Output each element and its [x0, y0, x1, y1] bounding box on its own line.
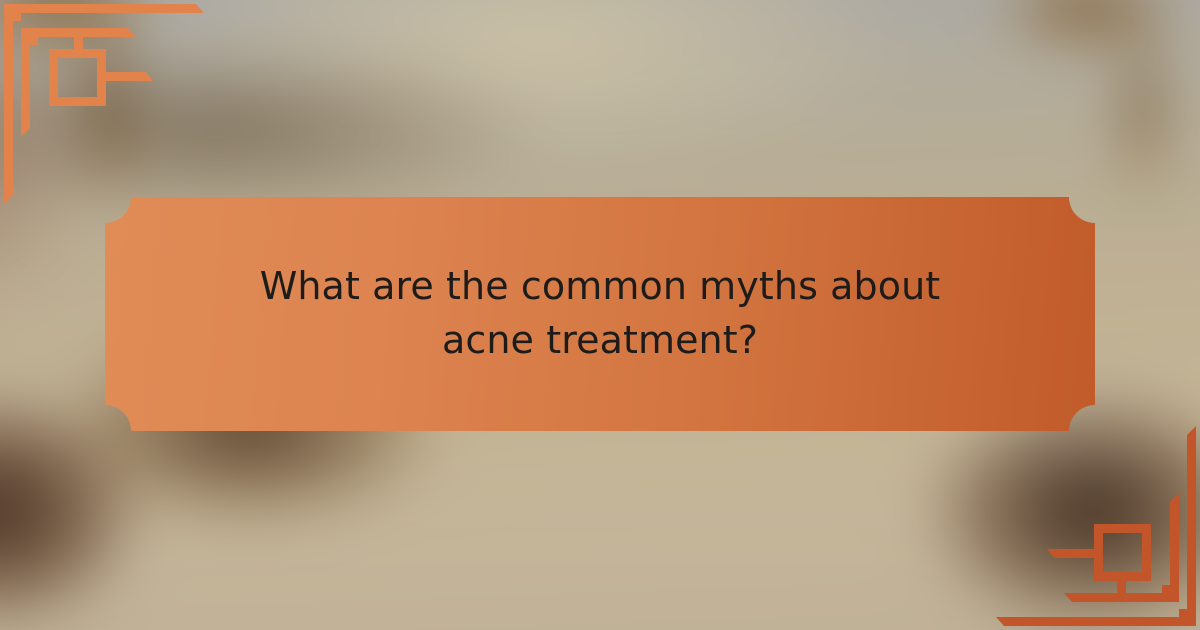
- card-canvas: What are the common myths about acne tre…: [0, 0, 1200, 630]
- banner-headline: What are the common myths about acne tre…: [105, 197, 1095, 431]
- question-banner: What are the common myths about acne tre…: [105, 197, 1095, 431]
